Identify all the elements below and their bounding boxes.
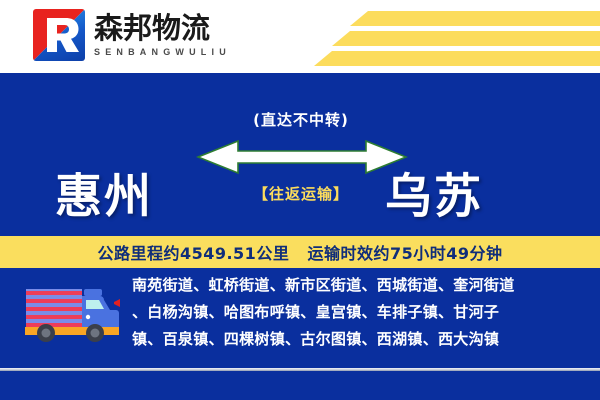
brand-logo[interactable]: 森邦物流 SENBANGWULIU: [33, 9, 231, 61]
coverage-line-2: 、白杨沟镇、哈图布呼镇、皇宫镇、车排子镇、甘河子: [132, 299, 590, 326]
route-return-note: 【往返运输】: [196, 183, 406, 204]
stripe-1: [350, 11, 600, 26]
destination-city: 乌苏: [385, 174, 483, 221]
route-direct-note: (直达不中转): [196, 109, 406, 130]
stripe-2: [332, 31, 600, 46]
route-band: 惠州 (直达不中转) 【往返运输】 乌苏: [0, 73, 600, 236]
coverage-area-list: 南苑街道、虹桥街道、新市区街道、西城街道、奎河街道 、白杨沟镇、哈图布呼镇、皇宫…: [132, 272, 590, 353]
distance-duration-bar: 公路里程约4549.51公里 运输时效约75小时49分钟: [0, 236, 600, 268]
brand-text: 森邦物流 SENBANGWULIU: [94, 13, 231, 56]
delivery-truck-icon: [22, 284, 122, 344]
distance-duration-text: 公路里程约4549.51公里 运输时效约75小时49分钟: [97, 240, 502, 264]
route-direct-note-wrap: (直达不中转): [196, 109, 406, 130]
origin-city: 惠州: [55, 174, 153, 221]
brand-name-en: SENBANGWULIU: [94, 47, 231, 57]
page-footer: [0, 371, 600, 400]
coverage-line-1: 南苑街道、虹桥街道、新市区街道、西城街道、奎河街道: [132, 272, 590, 299]
senbang-r-logo-icon: [33, 9, 85, 61]
header-stripes-decoration: [280, 0, 600, 73]
coverage-line-3: 镇、百泉镇、四棵树镇、古尔图镇、西湖镇、西大沟镇: [132, 326, 590, 353]
coverage-area-section: 南苑街道、虹桥街道、新市区街道、西城街道、奎河街道 、白杨沟镇、哈图布呼镇、皇宫…: [0, 268, 600, 369]
double-headed-arrow-icon: [196, 135, 408, 175]
logo-letter-r-icon: [33, 9, 85, 61]
page-header: 森邦物流 SENBANGWULIU: [0, 0, 600, 73]
brand-name-cn: 森邦物流: [94, 13, 231, 43]
stripe-3: [314, 51, 600, 66]
